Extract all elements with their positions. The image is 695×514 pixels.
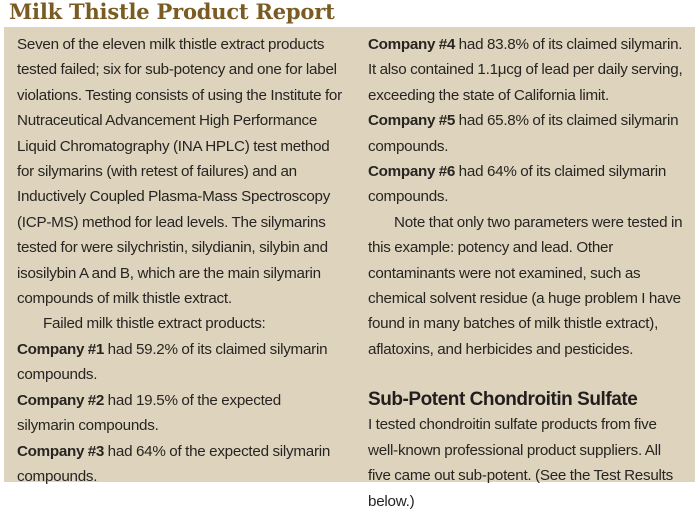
page-title: Milk Thistle Product Report [9, 0, 335, 25]
two-column-layout: Seven of the eleven milk thistle extract… [4, 27, 695, 482]
paragraph-failed-products-lead-in: Failed milk thistle extract products: [17, 311, 342, 336]
paragraph-company-4: Company #4 had 83.8% of its claimed sily… [368, 32, 687, 108]
company-3-label: Company #3 [17, 443, 104, 460]
company-5-label: Company #5 [368, 112, 455, 129]
right-column: Company #4 had 83.8% of its claimed sily… [350, 27, 695, 482]
body-panel: Seven of the eleven milk thistle extract… [4, 27, 695, 482]
report-container: Milk Thistle Product Report Seven of the… [0, 0, 695, 486]
paragraph-company-5: Company #5 had 65.8% of its claimed sily… [368, 108, 687, 159]
paragraph-chondroitin: I tested chondroitin sulfate products fr… [368, 412, 687, 514]
paragraph-intro: Seven of the eleven milk thistle extract… [17, 32, 342, 311]
company-2-label: Company #2 [17, 392, 104, 409]
paragraph-company-3: Company #3 had 64% of the expected silym… [17, 439, 342, 490]
section-spacer [368, 362, 687, 388]
company-1-label: Company #1 [17, 341, 104, 358]
company-4-label: Company #4 [368, 36, 455, 53]
paragraph-company-1: Company #1 had 59.2% of its claimed sily… [17, 337, 342, 388]
left-column: Seven of the eleven milk thistle extract… [4, 27, 350, 482]
company-6-label: Company #6 [368, 163, 455, 180]
section-heading-chondroitin: Sub-Potent Chondroitin Sulfate [368, 388, 687, 412]
title-bar: Milk Thistle Product Report [0, 0, 695, 27]
paragraph-company-6: Company #6 had 64% of its claimed silyma… [368, 159, 687, 210]
paragraph-note: Note that only two parameters were teste… [368, 210, 687, 362]
paragraph-company-2: Company #2 had 19.5% of the expected sil… [17, 388, 342, 439]
